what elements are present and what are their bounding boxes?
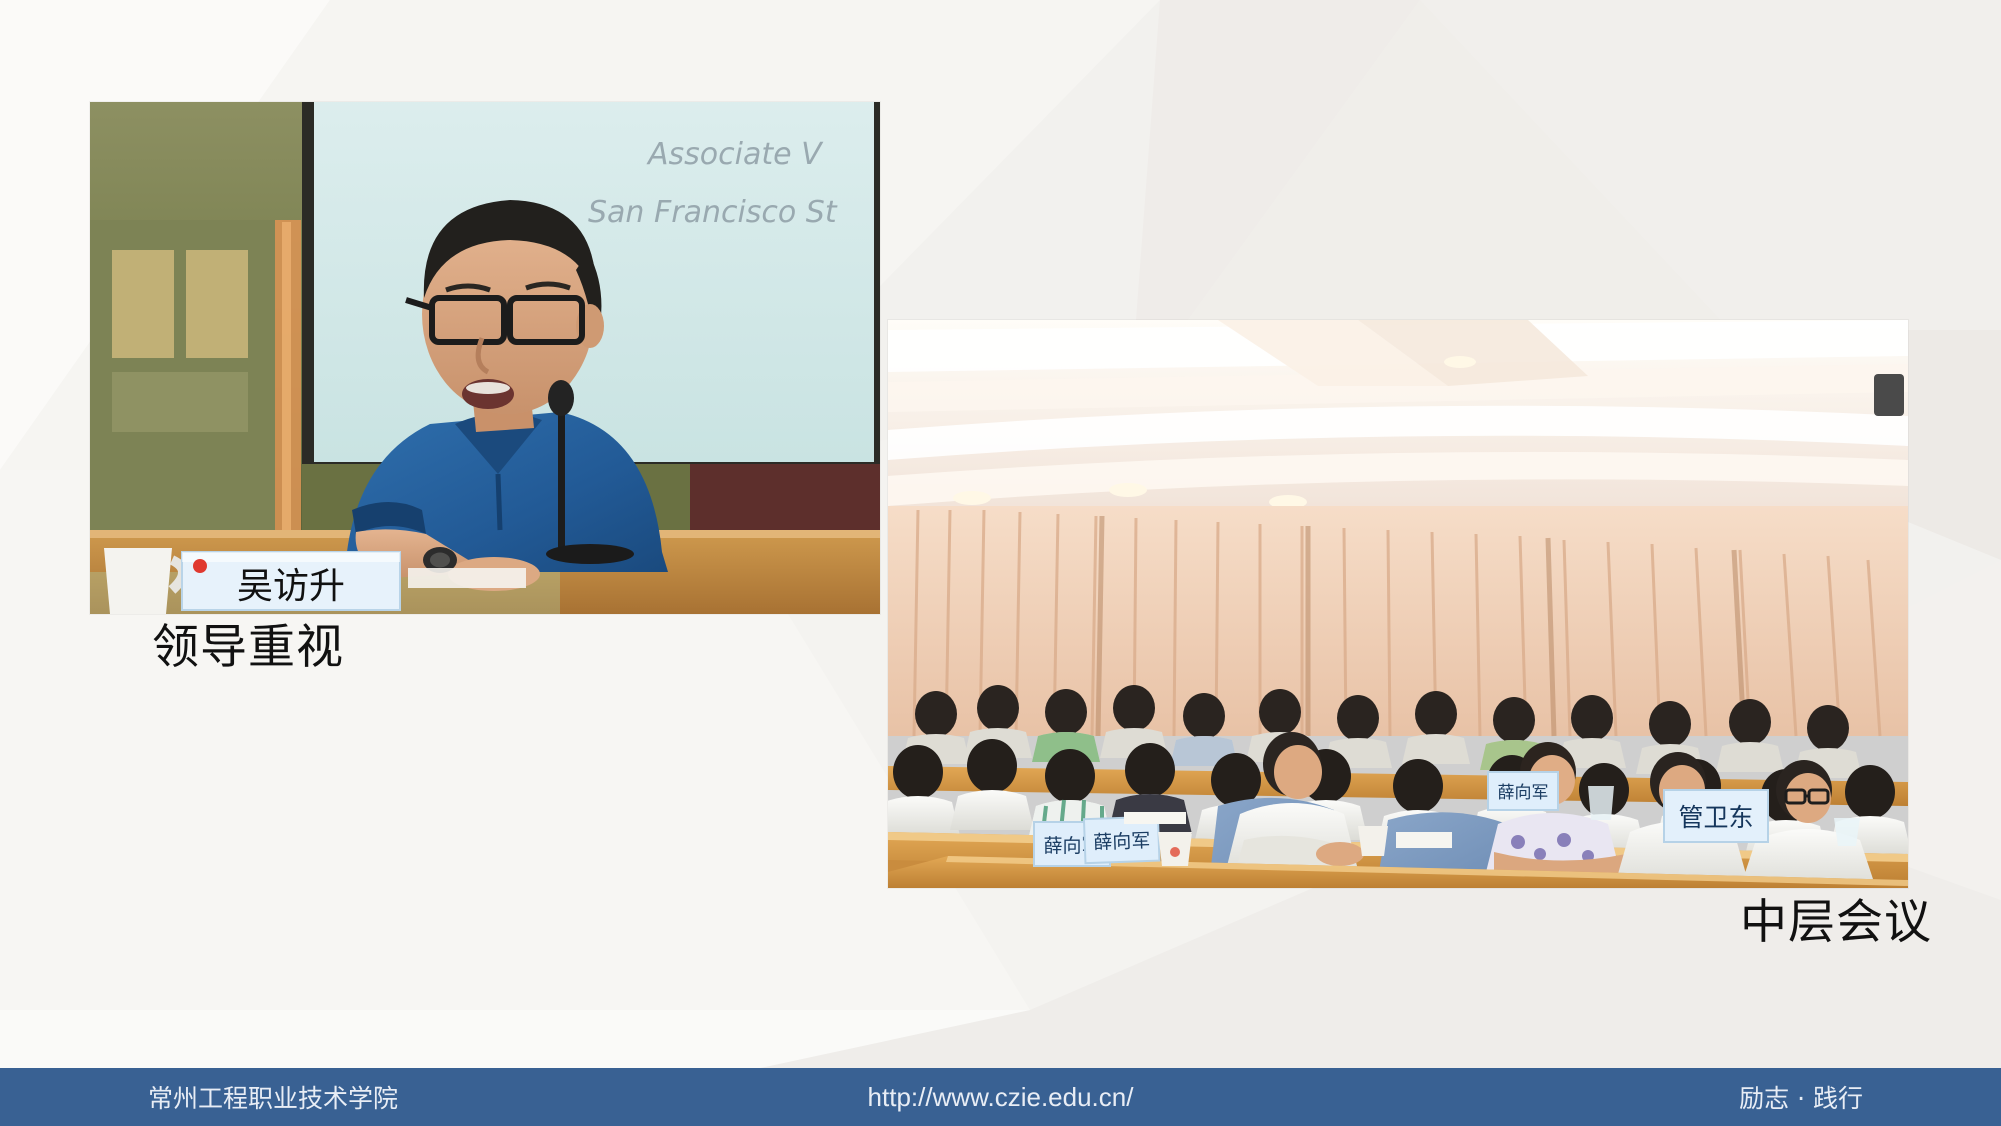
footer-motto: 励志 · 践行 — [1739, 1079, 1863, 1115]
meeting-photo-caption: 中层会议 — [1740, 897, 1932, 949]
leader-photo-caption: 领导重视 — [152, 622, 344, 674]
svg-text:管卫东: 管卫东 — [1678, 803, 1753, 832]
slide-footer: 常州工程职业技术学院 http://www.czie.edu.cn/ 励志 · … — [0, 1068, 2001, 1126]
svg-text:薛向军: 薛向军 — [1498, 783, 1549, 803]
svg-text:薛向军: 薛向军 — [1093, 830, 1151, 854]
svg-text:San Francisco St: San Francisco St — [588, 195, 838, 230]
svg-text:Associate V: Associate V — [646, 137, 824, 172]
footer-website-url[interactable]: http://www.czie.edu.cn/ — [868, 1082, 1134, 1113]
presentation-slide: Associate V San Francisco St — [0, 0, 2001, 1126]
leader-speaking-photo[interactable]: Associate V San Francisco St — [90, 102, 880, 614]
footer-organization-name: 常州工程职业技术学院 — [148, 1079, 398, 1115]
svg-text:吴访升: 吴访升 — [237, 566, 345, 607]
mid-level-meeting-photo[interactable]: 薛向军 薛向军 管卫东 薛向军 — [888, 320, 1908, 888]
